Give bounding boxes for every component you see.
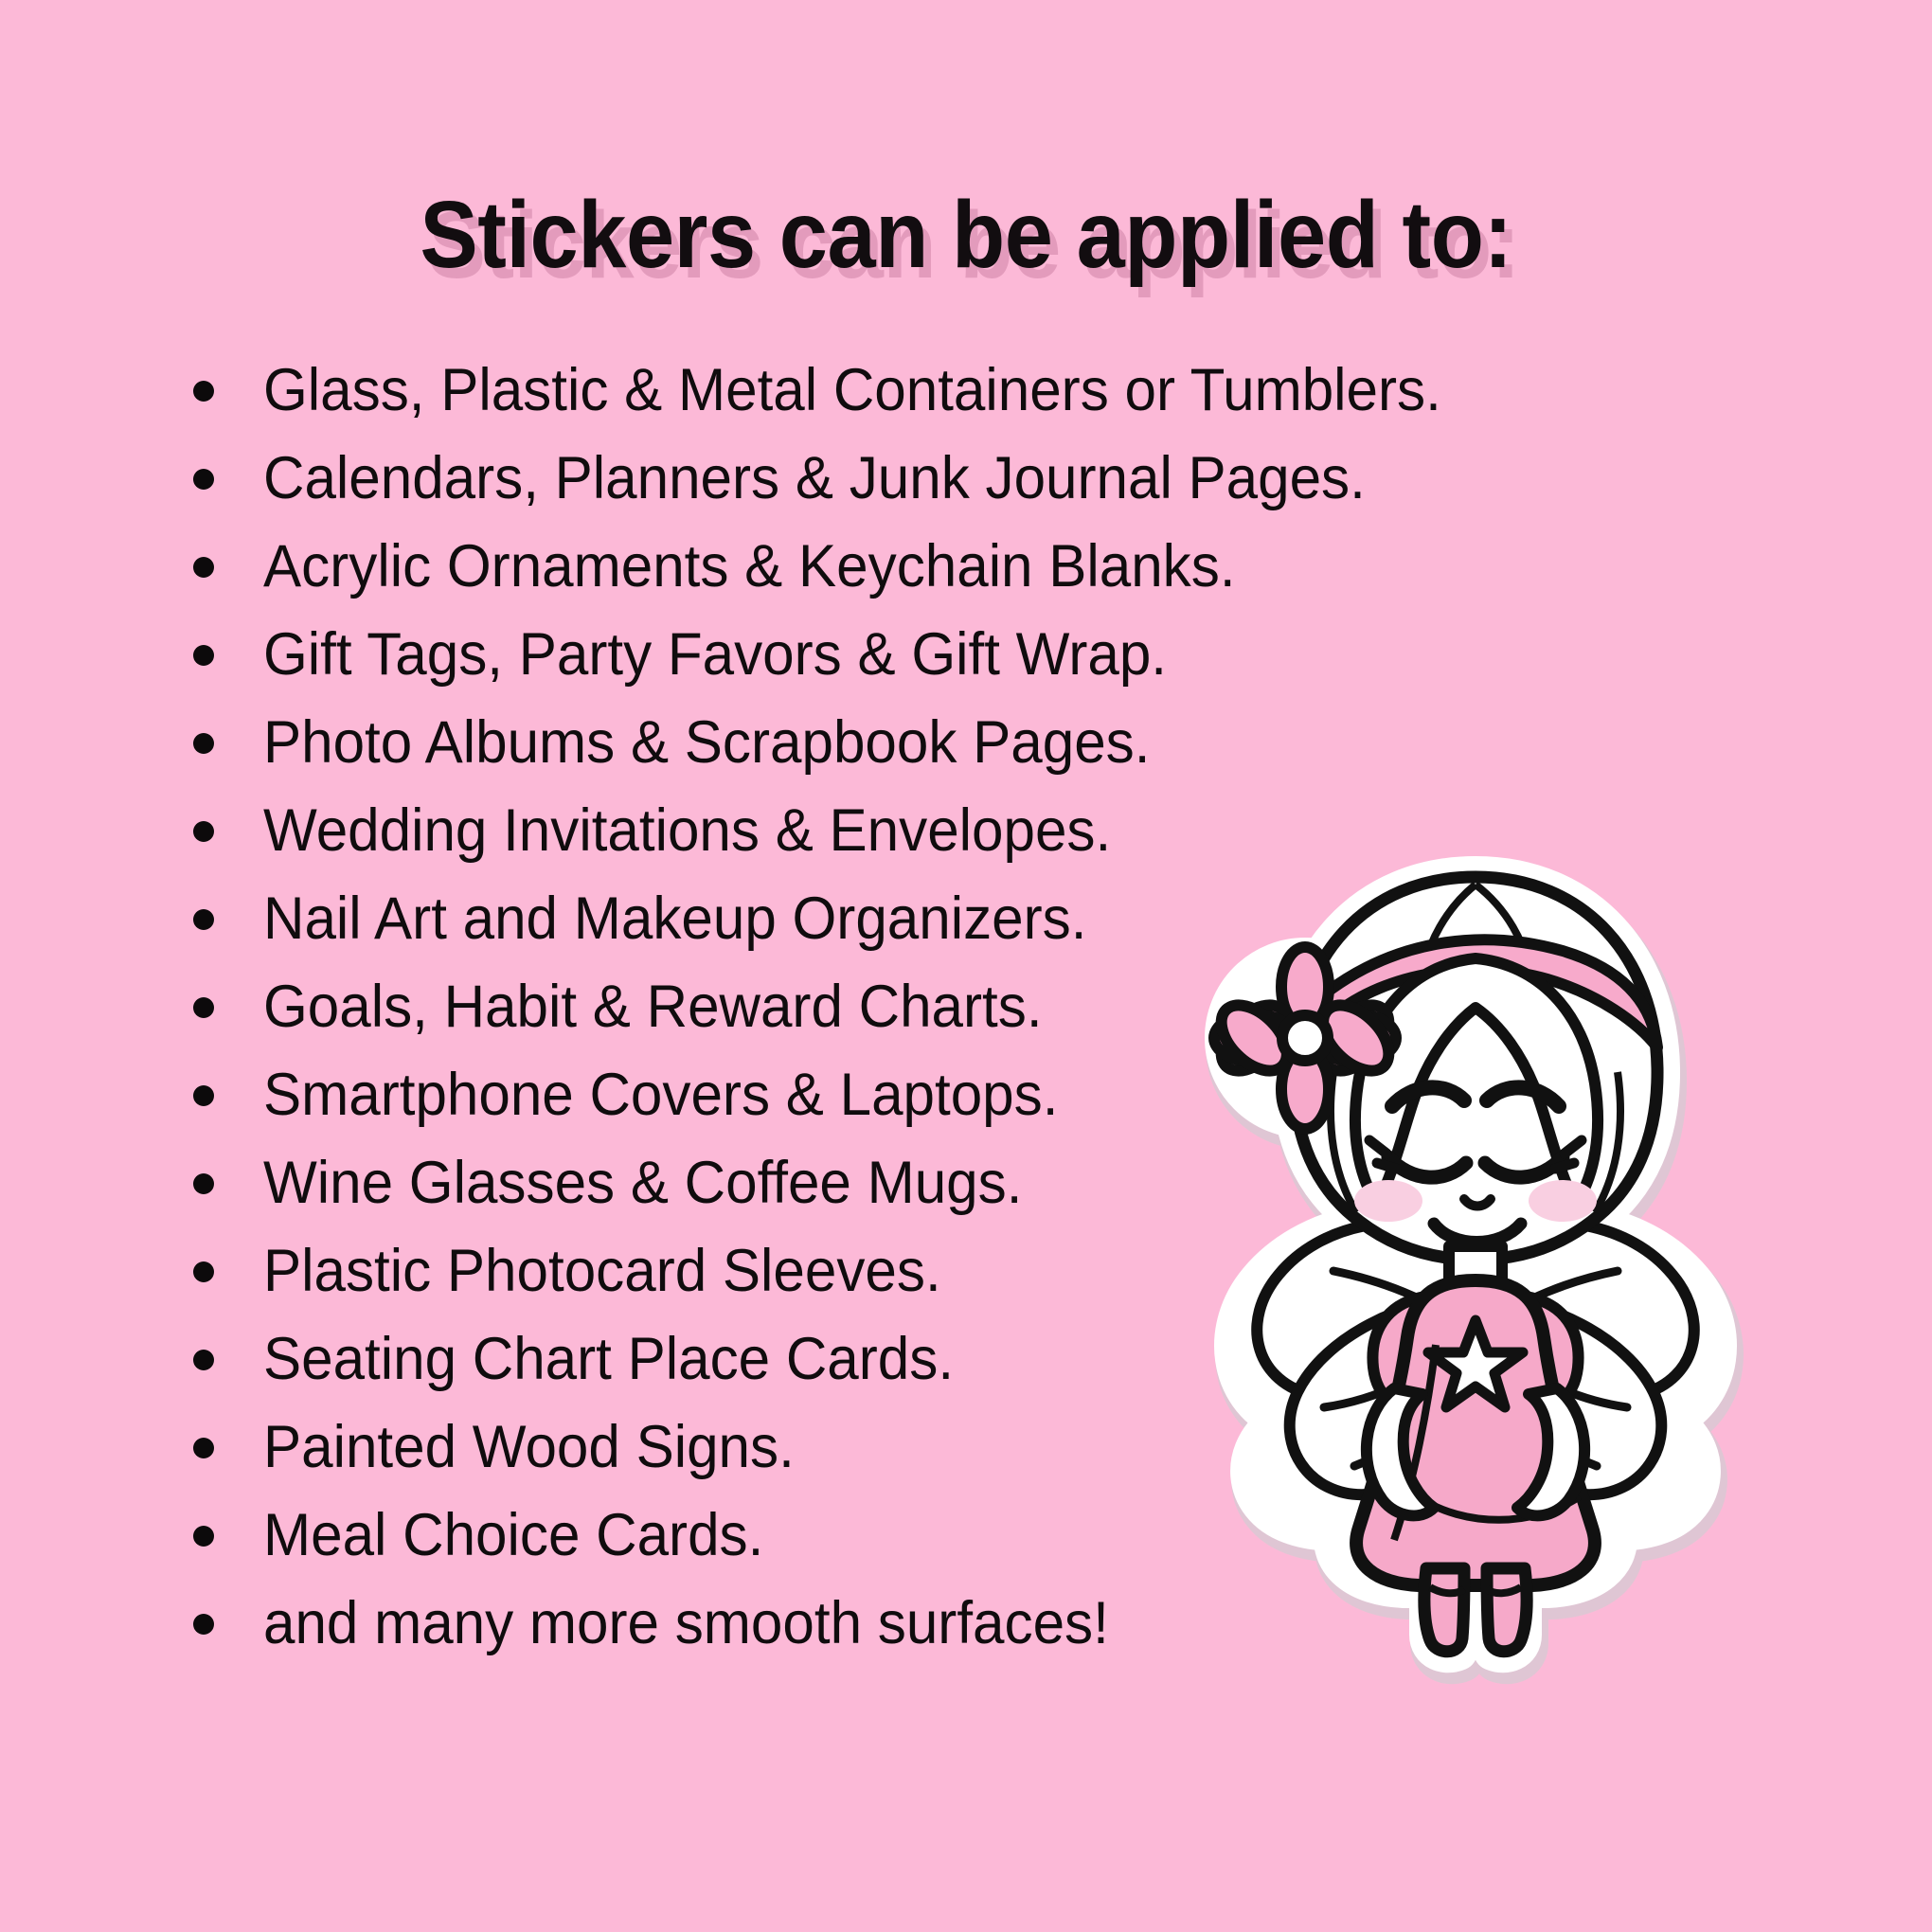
- bullet-icon: [193, 1526, 214, 1547]
- list-item-label: Gift Tags, Party Favors & Gift Wrap.: [263, 611, 1167, 699]
- list-item-label: Calendars, Planners & Junk Journal Pages…: [263, 435, 1366, 523]
- list-item-label: Glass, Plastic & Metal Containers or Tum…: [263, 347, 1441, 435]
- list-item-label: Goals, Habit & Reward Charts.: [263, 963, 1043, 1051]
- bullet-icon: [193, 1261, 214, 1282]
- bullet-icon: [193, 1085, 214, 1106]
- bullet-icon: [193, 997, 214, 1018]
- list-item: Photo Albums & Scrapbook Pages.: [176, 699, 1824, 787]
- bullet-icon: [193, 909, 214, 930]
- bullet-icon: [193, 1350, 214, 1370]
- list-item-label: Painted Wood Signs.: [263, 1404, 795, 1492]
- list-item-label: Meal Choice Cards.: [263, 1492, 763, 1580]
- list-item: Gift Tags, Party Favors & Gift Wrap.: [176, 611, 1824, 699]
- list-item: Acrylic Ornaments & Keychain Blanks.: [176, 523, 1824, 611]
- fairy-head: [1209, 877, 1657, 1260]
- list-item-label: Photo Albums & Scrapbook Pages.: [263, 699, 1150, 787]
- fairy-girl-sticker: [1191, 852, 1722, 1667]
- bullet-icon: [193, 1614, 214, 1635]
- bullet-icon: [193, 381, 214, 402]
- cheek-right: [1529, 1180, 1597, 1222]
- bullet-icon: [193, 469, 214, 490]
- list-item-label: Seating Chart Place Cards.: [263, 1315, 954, 1404]
- bullet-icon: [193, 557, 214, 578]
- bullet-icon: [193, 1438, 214, 1458]
- list-item: Calendars, Planners & Junk Journal Pages…: [176, 435, 1824, 523]
- cheek-left: [1354, 1180, 1422, 1222]
- bullet-icon: [193, 733, 214, 754]
- list-item-label: Wine Glasses & Coffee Mugs.: [263, 1139, 1022, 1227]
- list-item-label: and many more smooth surfaces!: [263, 1580, 1109, 1668]
- list-item-label: Wedding Invitations & Envelopes.: [263, 787, 1111, 875]
- list-item-label: Nail Art and Makeup Organizers.: [263, 875, 1086, 963]
- bullet-icon: [193, 645, 214, 666]
- list-item-label: Acrylic Ornaments & Keychain Blanks.: [263, 523, 1236, 611]
- page-title: Stickers can be applied to:: [78, 186, 1855, 284]
- bullet-icon: [193, 1173, 214, 1194]
- bullet-icon: [193, 821, 214, 842]
- poster-canvas: Stickers can be applied to: Glass, Plast…: [0, 0, 1932, 1932]
- list-item-label: Plastic Photocard Sleeves.: [263, 1227, 941, 1315]
- list-item: Glass, Plastic & Metal Containers or Tum…: [176, 347, 1824, 435]
- list-item-label: Smartphone Covers & Laptops.: [263, 1051, 1058, 1139]
